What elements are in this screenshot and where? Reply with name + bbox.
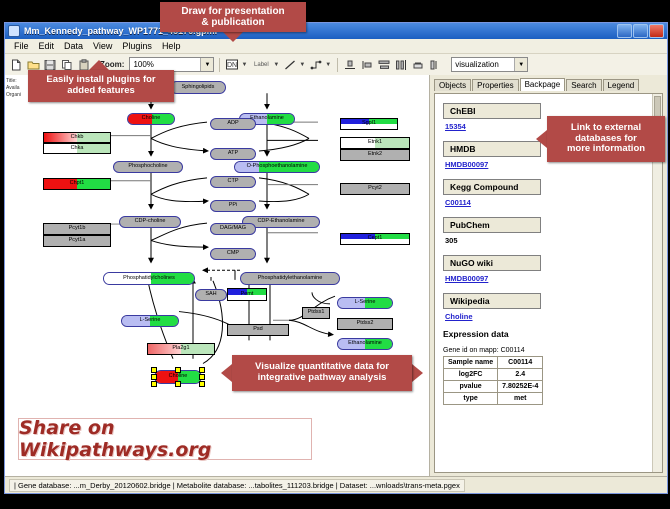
info-organism: Organi xyxy=(6,92,28,99)
data-node-icon[interactable]: DN xyxy=(225,58,239,72)
pathway-node-l-serine-left[interactable]: L-Serine xyxy=(121,315,179,327)
toolbar-separator xyxy=(219,58,220,72)
expression-row: Sample nameC00114 xyxy=(444,357,543,369)
pathway-node-psd[interactable]: Psd xyxy=(227,324,289,336)
expression-key: pvalue xyxy=(444,381,498,393)
pathway-node-adp[interactable]: ADP xyxy=(210,118,256,130)
callout-draw: Draw for presentation & publication xyxy=(160,2,306,32)
node-label: Chpt1 xyxy=(70,181,85,187)
pathway-node-atp[interactable]: ATP xyxy=(210,148,256,160)
pathway-node-cmp[interactable]: CMP xyxy=(210,248,256,260)
node-label: Phosphocholine xyxy=(128,164,167,170)
minimize-button[interactable] xyxy=(617,24,632,38)
menu-bar: File Edit Data View Plugins Help xyxy=(5,39,667,54)
node-label: CDP-choline xyxy=(135,219,166,225)
selection-handle[interactable] xyxy=(151,374,157,380)
info-title: Title: xyxy=(6,78,28,85)
stack-icon[interactable] xyxy=(411,58,425,72)
pathway-node-sah[interactable]: SAH xyxy=(195,289,227,301)
pathway-node-pcyt1b[interactable]: Pcyt1b xyxy=(43,223,111,235)
align-left-icon[interactable] xyxy=(360,58,374,72)
expression-row: log2FC2.4 xyxy=(444,369,543,381)
menu-edit[interactable]: Edit xyxy=(34,41,60,51)
pathway-node-phosphocholine[interactable]: Phosphocholine xyxy=(113,161,183,173)
node-label: Pcyt1b xyxy=(69,226,86,232)
node-label: CTP xyxy=(228,179,239,185)
node-label: Phosphatidylethanolamine xyxy=(258,276,323,282)
pathway-node-dag-mag[interactable]: DAG/MAG xyxy=(210,223,256,235)
tab-search[interactable]: Search xyxy=(566,79,601,91)
expression-value: 7.80252E-4 xyxy=(498,381,543,393)
db-header-wikipedia: Wikipedia xyxy=(443,293,541,309)
zoom-value: 100% xyxy=(133,60,153,69)
screenshot-root: Mm_Kennedy_pathway_WP1771_45176.gpml Fil… xyxy=(0,0,670,509)
node-label: Sgpl1 xyxy=(362,121,376,127)
pathway-node-chpt1[interactable]: Chpt1 xyxy=(43,178,111,190)
node-label: Pla2g1 xyxy=(172,346,189,352)
node-label: Etnk1 xyxy=(368,140,382,146)
window-buttons xyxy=(617,24,664,38)
pathway-node-pcyt2[interactable]: Pcyt2 xyxy=(340,183,410,195)
expression-data-title: Expression data xyxy=(443,329,654,339)
callout-link: Link to external databases for more info… xyxy=(547,116,665,162)
menu-file[interactable]: File xyxy=(9,41,34,51)
pathway-node-pla2g1[interactable]: Pla2g1 xyxy=(147,343,215,355)
node-label: Phosphatidylcholines xyxy=(123,276,175,282)
new-file-icon[interactable] xyxy=(9,58,23,72)
pathway-node-sphingolipids[interactable]: Sphingolipids xyxy=(170,81,226,94)
tab-properties[interactable]: Properties xyxy=(472,79,518,91)
db-header-kegg: Kegg Compound xyxy=(443,179,541,195)
pathway-node-o-phosphoethanolamine[interactable]: O-Phosphoethanolamine xyxy=(234,161,320,173)
pathway-node-ptdss1[interactable]: Ptdss1 xyxy=(302,307,330,319)
chevron-down-icon[interactable]: ▼ xyxy=(299,62,305,68)
selection-handle[interactable] xyxy=(151,367,157,373)
share-banner: Share on Wikipathways.org xyxy=(18,418,312,460)
pathway-node-pemt[interactable]: Pemt xyxy=(227,288,267,301)
callout-draw-arrow-icon xyxy=(222,31,244,42)
selection-handle[interactable] xyxy=(199,367,205,373)
info-availability: Availa xyxy=(6,85,28,92)
node-label: CDP-Ethanolamine xyxy=(257,219,304,225)
chevron-down-icon[interactable]: ▼ xyxy=(241,62,247,68)
node-label: Choline xyxy=(169,374,188,380)
expression-value: met xyxy=(498,393,543,405)
status-bar: | Gene database: ...m_Derby_20120602.bri… xyxy=(5,476,667,493)
callout-visualize-arrow-right-icon xyxy=(412,364,423,382)
node-label: DAG/MAG xyxy=(220,226,246,232)
node-label: Chkb xyxy=(71,135,84,141)
node-label: Ptdss2 xyxy=(357,321,374,327)
pathway-node-etnk1[interactable]: Etnk1 xyxy=(340,137,410,149)
expression-key: type xyxy=(444,393,498,405)
callout-link-arrow-icon xyxy=(536,130,547,148)
menu-plugins[interactable]: Plugins xyxy=(117,41,157,51)
status-text: | Gene database: ...m_Derby_20120602.bri… xyxy=(9,479,465,492)
callout-visualize: Visualize quantitative data for integrat… xyxy=(232,355,412,391)
expression-value: 2.4 xyxy=(498,369,543,381)
pathway-node-pcyt1a[interactable]: Pcyt1a xyxy=(43,235,111,247)
node-label: L-Serine xyxy=(140,318,161,324)
node-label: O-Phosphoethanolamine xyxy=(247,164,308,170)
node-label: ATP xyxy=(228,151,238,157)
node-label: L-Serine xyxy=(355,300,376,306)
callout-draw-line2: & publication xyxy=(201,17,264,29)
node-label: Pcyt1a xyxy=(69,238,86,244)
callout-visualize-line2: integrative pathway analysis xyxy=(258,373,387,384)
node-label: Choline xyxy=(142,116,161,122)
node-label: Cept1 xyxy=(368,236,383,242)
share-text: Share on Wikipathways.org xyxy=(19,417,311,461)
app-icon xyxy=(8,25,20,37)
pathway-node-phosphatidylcholines[interactable]: Phosphatidylcholines xyxy=(103,272,195,285)
pathway-node-cept1[interactable]: Cept1 xyxy=(340,233,410,245)
pathway-node-ctp[interactable]: CTP xyxy=(210,176,256,188)
distribute-vertical-icon[interactable] xyxy=(377,58,391,72)
callout-visualize-arrow-icon xyxy=(221,364,232,382)
expression-key: log2FC xyxy=(444,369,498,381)
svg-text:DN: DN xyxy=(227,62,237,69)
selection-handle[interactable] xyxy=(175,367,181,373)
menu-data[interactable]: Data xyxy=(59,41,88,51)
close-button[interactable] xyxy=(649,24,664,38)
node-label: SAH xyxy=(205,292,216,298)
chevron-down-icon[interactable]: ▼ xyxy=(514,58,527,71)
expression-row: pvalue7.80252E-4 xyxy=(444,381,543,393)
node-label: Etnk2 xyxy=(368,152,382,158)
tab-legend[interactable]: Legend xyxy=(603,79,640,91)
label-icon[interactable]: Label xyxy=(251,58,271,72)
pathway-node-cdp-choline[interactable]: CDP-choline xyxy=(119,216,181,228)
pathway-node-etnk2[interactable]: Etnk2 xyxy=(340,149,410,161)
callout-draw-line1: Draw for presentation xyxy=(181,6,284,18)
connector-icon[interactable] xyxy=(309,58,323,72)
pathway-node-ethanolamine-right[interactable]: Ethanolamine xyxy=(337,338,393,350)
expression-value: C00114 xyxy=(498,357,543,369)
title-bar: Mm_Kennedy_pathway_WP1771_45176.gpml xyxy=(5,23,667,39)
tab-backpage[interactable]: Backpage xyxy=(520,78,566,91)
chevron-down-icon[interactable]: ▼ xyxy=(273,62,279,68)
expression-row: typemet xyxy=(444,393,543,405)
callout-link-line3: more information xyxy=(567,144,645,155)
callout-link-line1: Link to external xyxy=(571,123,641,134)
node-label: PPi xyxy=(229,203,238,209)
menu-view[interactable]: View xyxy=(88,41,117,51)
group-icon[interactable] xyxy=(428,58,442,72)
gene-id-line: Gene id on mapp: C00114 xyxy=(443,347,654,354)
node-label: Pcyt2 xyxy=(368,186,382,192)
expression-key: Sample name xyxy=(444,357,498,369)
node-label: Chka xyxy=(71,146,84,152)
pathway-node-ptdss2[interactable]: Ptdss2 xyxy=(337,318,393,330)
pathway-node-phosphatidylethanolamine[interactable]: Phosphatidylethanolamine xyxy=(240,272,340,285)
selection-handle[interactable] xyxy=(199,374,205,380)
db-link-nugo[interactable]: HMDB00097 xyxy=(445,274,654,283)
db-header-nugo: NuGO wiki xyxy=(443,255,541,271)
pathway-node-choline-top[interactable]: Choline xyxy=(127,113,175,125)
db-link-kegg[interactable]: C00114 xyxy=(445,198,654,207)
chevron-down-icon[interactable]: ▼ xyxy=(325,62,331,68)
selection-handle[interactable] xyxy=(151,381,157,387)
selection-handle[interactable] xyxy=(175,381,181,387)
visualization-value: visualization xyxy=(455,60,499,69)
menu-help[interactable]: Help xyxy=(157,41,186,51)
node-label: CMP xyxy=(227,251,239,257)
node-label: Sphingolipids xyxy=(182,85,215,91)
distribute-horizontal-icon[interactable] xyxy=(394,58,408,72)
node-label: Ptdss1 xyxy=(308,310,325,316)
callout-plugins: Easily install plugins for added feature… xyxy=(28,70,174,102)
side-panel-tabs: Objects Properties Backpage Search Legen… xyxy=(430,77,667,91)
maximize-button[interactable] xyxy=(633,24,648,38)
align-bottom-icon[interactable] xyxy=(343,58,357,72)
visualization-combo[interactable]: visualization ▼ xyxy=(451,57,528,72)
pathway-node-sgpl1[interactable]: Sgpl1 xyxy=(340,118,398,130)
node-label: Pemt xyxy=(241,292,254,298)
toolbar-separator xyxy=(337,58,338,72)
tab-objects[interactable]: Objects xyxy=(434,79,471,91)
node-label: Psd xyxy=(253,327,262,333)
db-header-pubchem: PubChem xyxy=(443,217,541,233)
db-header-chebi: ChEBI xyxy=(443,103,541,119)
callout-plugins-line2: added features xyxy=(67,86,135,97)
node-label: Ethanolamine xyxy=(250,116,284,122)
node-label: Ethanolamine xyxy=(348,341,382,347)
expression-table: Sample nameC00114log2FC2.4pvalue7.80252E… xyxy=(443,356,543,405)
pathway-node-ppi[interactable]: PPi xyxy=(210,200,256,212)
db-link-wikipedia[interactable]: Choline xyxy=(445,312,654,321)
selection-handle[interactable] xyxy=(199,381,205,387)
db-header-hmdb: HMDB xyxy=(443,141,541,157)
chevron-down-icon[interactable]: ▼ xyxy=(200,58,213,71)
line-icon[interactable] xyxy=(283,58,297,72)
pathway-node-chka[interactable]: Chka xyxy=(43,143,111,154)
node-label: ADP xyxy=(227,121,238,127)
pathway-node-chkb[interactable]: Chkb xyxy=(43,132,111,143)
pathway-node-l-serine-right[interactable]: L-Serine xyxy=(337,297,393,309)
db-value-pubchem: 305 xyxy=(445,236,654,245)
